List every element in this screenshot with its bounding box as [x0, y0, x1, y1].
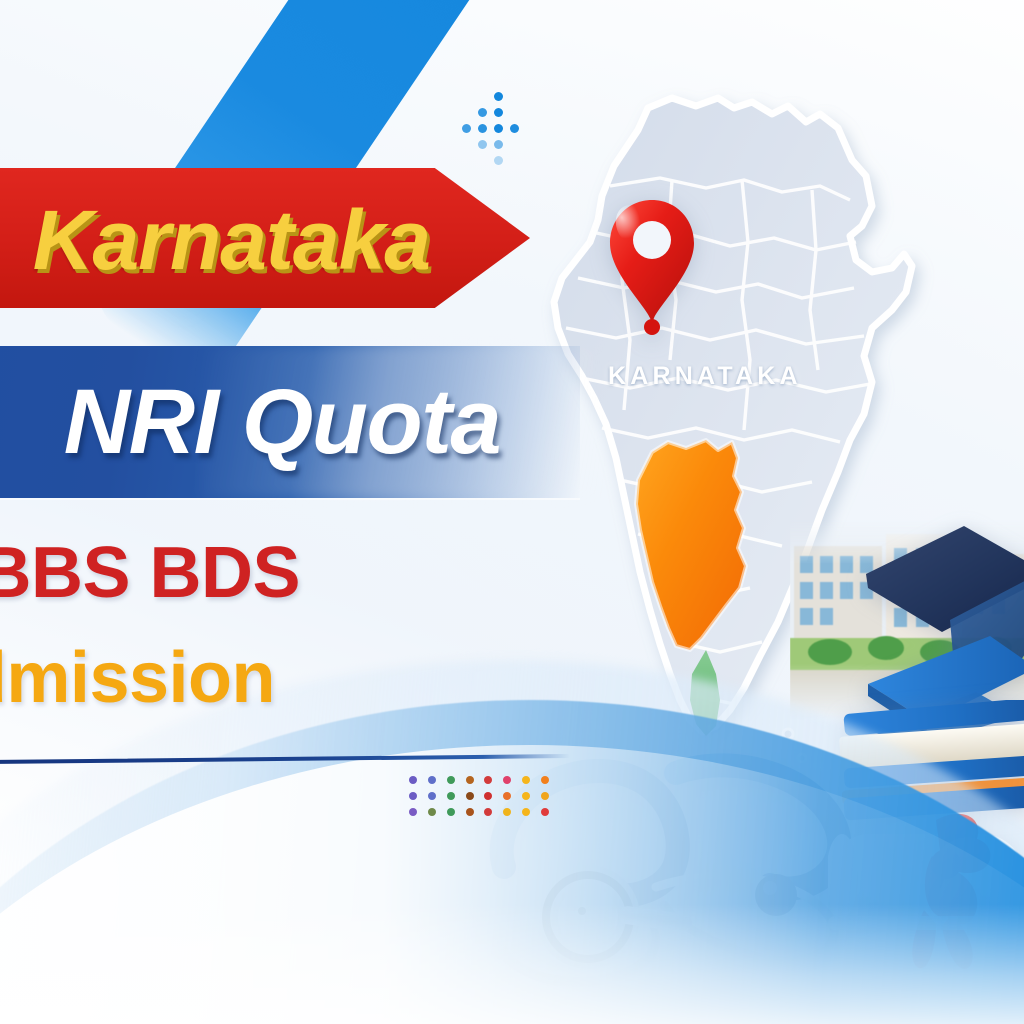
- decorative-dot-4: [478, 124, 487, 133]
- grid-dot-1-0: [409, 792, 417, 800]
- grid-dot-1-3: [466, 792, 474, 800]
- book-stack: [838, 700, 1024, 840]
- background-gradient: [0, 0, 1024, 1024]
- admission-headline-text: Admission: [0, 632, 275, 724]
- decorative-dot-9: [494, 156, 503, 165]
- grid-dot-2-4: [484, 808, 492, 816]
- decorative-dot-6: [510, 124, 519, 133]
- grid-dot-2-5: [503, 808, 511, 816]
- white-curve-overlay: [0, 745, 1024, 1024]
- grid-dot-1-6: [522, 792, 530, 800]
- graduation-cap: [858, 516, 1024, 746]
- grid-dot-0-3: [466, 776, 474, 784]
- grid-dot-2-6: [522, 808, 530, 816]
- college-building-photo: [790, 520, 1024, 720]
- diploma-scroll: [828, 790, 1024, 990]
- grid-dot-1-7: [541, 792, 549, 800]
- blue-dot-diamond-decoration: [462, 92, 534, 164]
- promo-banner: KARNATAKA: [0, 0, 1024, 1024]
- bottom-fade-overlay: [0, 904, 1024, 1024]
- grid-dot-2-0: [409, 808, 417, 816]
- decorative-dot-7: [478, 140, 487, 149]
- grid-dot-0-0: [409, 776, 417, 784]
- grid-dot-1-4: [484, 792, 492, 800]
- grid-dot-0-2: [447, 776, 455, 784]
- grid-dot-0-4: [484, 776, 492, 784]
- grid-dot-2-3: [466, 808, 474, 816]
- grid-dot-0-5: [503, 776, 511, 784]
- map-state-label: KARNATAKA: [608, 362, 802, 391]
- decorative-dot-2: [494, 108, 503, 117]
- stethoscope: [470, 745, 900, 1024]
- grid-dot-1-2: [447, 792, 455, 800]
- grid-dot-2-2: [447, 808, 455, 816]
- grid-dot-2-1: [428, 808, 436, 816]
- decorative-dot-0: [494, 92, 503, 101]
- decorative-dot-1: [478, 108, 487, 117]
- blue-curve-decoration: [0, 700, 1024, 1024]
- navy-divider-line: [0, 754, 570, 764]
- decorative-dot-3: [462, 124, 471, 133]
- grid-dot-0-6: [522, 776, 530, 784]
- decorative-dot-8: [494, 140, 503, 149]
- courses-headline-text: MBBS BDS: [0, 530, 300, 616]
- grid-dot-2-7: [541, 808, 549, 816]
- grid-dot-1-5: [503, 792, 511, 800]
- grid-dot-1-1: [428, 792, 436, 800]
- grid-dot-0-1: [428, 776, 436, 784]
- quota-headline-text: NRI Quota: [0, 352, 540, 492]
- grid-dot-0-7: [541, 776, 549, 784]
- state-headline-text: Karnataka: [0, 186, 530, 294]
- decorative-dot-5: [494, 124, 503, 133]
- colorful-dot-grid-decoration: [404, 772, 554, 820]
- location-pin-icon: [604, 196, 700, 336]
